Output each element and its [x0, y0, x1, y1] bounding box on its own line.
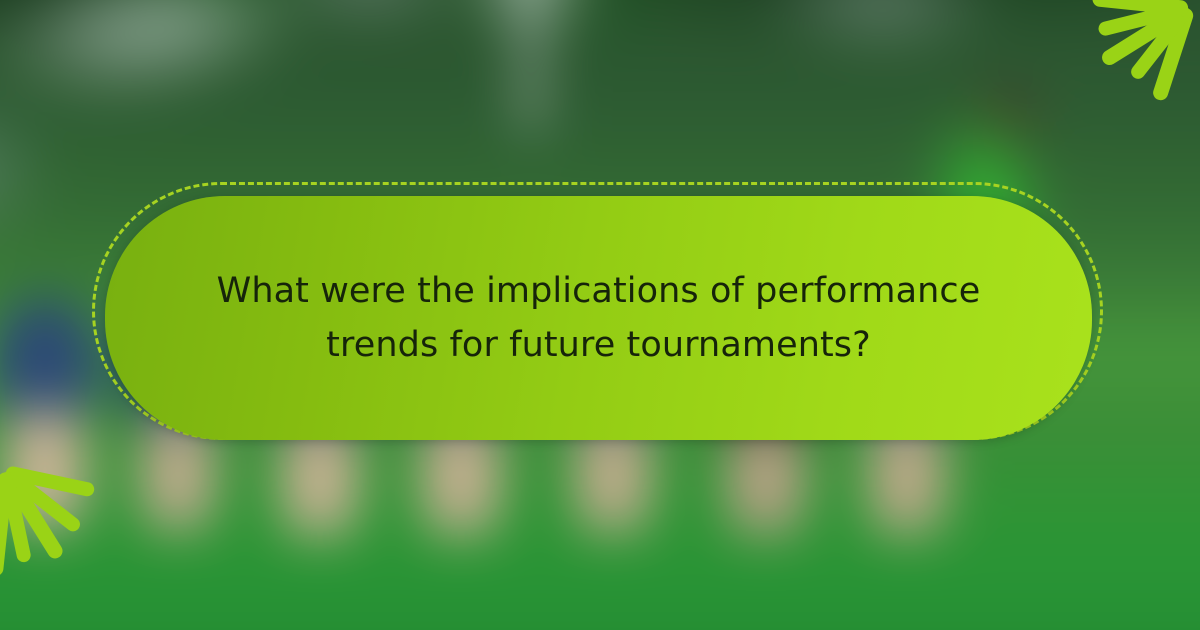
card-body: What were the implications of performanc…: [105, 196, 1092, 440]
question-text: What were the implications of performanc…: [105, 264, 1092, 373]
question-card: What were the implications of performanc…: [105, 196, 1092, 440]
background-light-post: [518, 0, 544, 130]
background-figure-1: [0, 300, 100, 420]
social-card-canvas: What were the implications of performanc…: [0, 0, 1200, 630]
